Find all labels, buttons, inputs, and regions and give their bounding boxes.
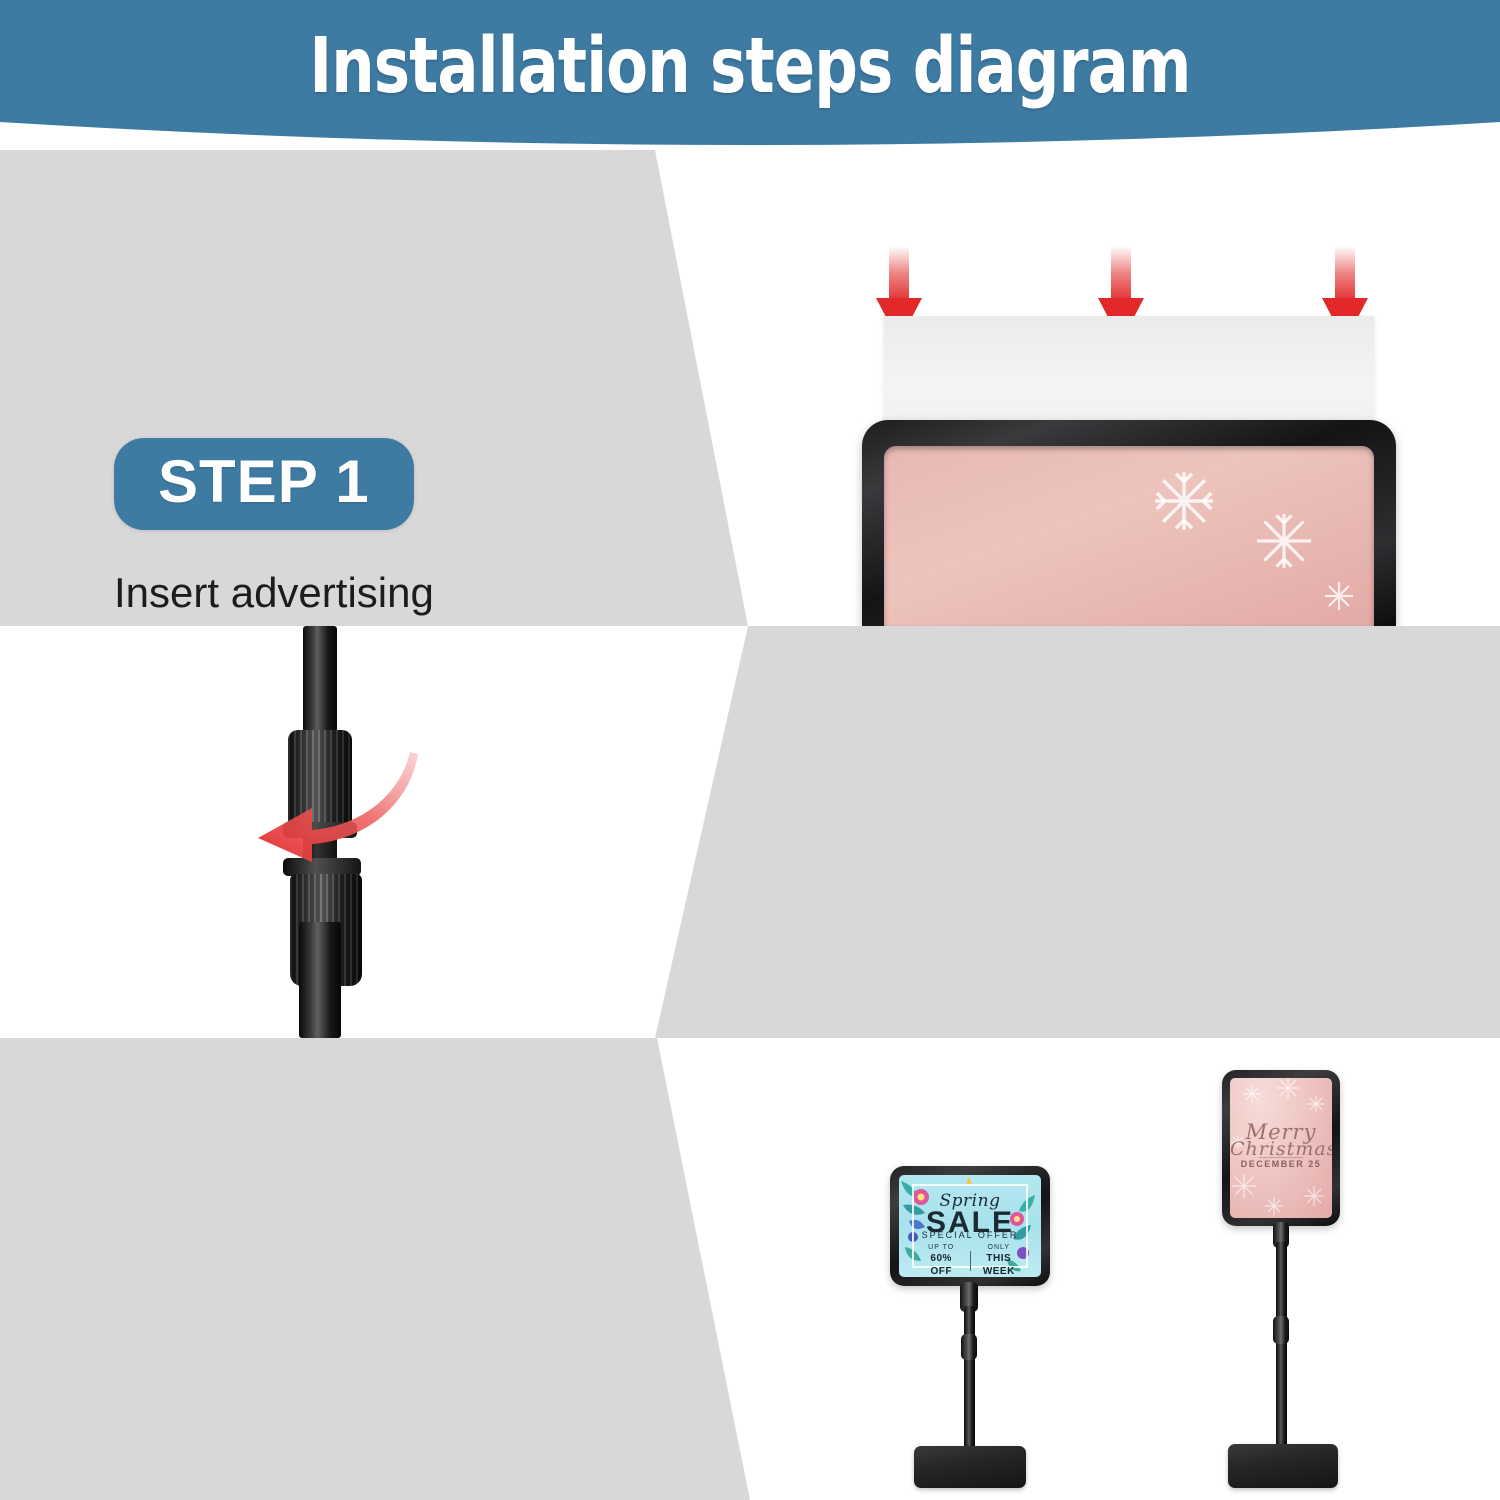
stand-pole	[964, 1306, 975, 1466]
deal-left-top: UP TO	[919, 1244, 964, 1253]
step-3-row: Spring SALE SPECIAL OFFER UP TO 60% OFF …	[0, 1038, 1500, 1500]
deal-right-bottom: THIS WEEK	[977, 1253, 1022, 1277]
installation-diagram-page: Installation steps diagram	[0, 0, 1500, 1500]
upper-pole-segment	[303, 626, 337, 738]
snap-frame-portrait: Merry Christmas DECEMBER 25	[1222, 1070, 1340, 1226]
lower-pole-segment	[299, 922, 341, 1038]
stand-pole	[1276, 1242, 1287, 1464]
step-1-text-block: STEP 1 Insert advertising paper into the…	[114, 438, 541, 626]
step-1-description-line-1: Insert advertising	[114, 566, 541, 621]
snap-frame-landscape: Spring SALE SPECIAL OFFER UP TO 60% OFF …	[890, 1166, 1050, 1286]
merry-christmas-poster: Merry Christmas DECEMBER 25	[1230, 1078, 1332, 1218]
step-1-description: Insert advertising paper into the card s…	[114, 566, 541, 626]
pole-knob	[1273, 1316, 1289, 1344]
spring-sale-poster: Spring SALE SPECIAL OFFER UP TO 60% OFF …	[899, 1175, 1041, 1277]
snap-frame-top	[862, 420, 1396, 626]
snap-frame-poster-area	[884, 446, 1374, 626]
step-3-illustration: Spring SALE SPECIAL OFFER UP TO 60% OFF …	[0, 1038, 1500, 1500]
deal-right-top: ONLY	[977, 1244, 1022, 1253]
step-2-illustration	[0, 626, 1500, 1038]
step-1-badge: STEP 1	[114, 438, 414, 530]
spring-poster-deal-left: UP TO 60% OFF	[919, 1244, 964, 1277]
snowflake-pattern-icon	[884, 446, 1374, 626]
deal-divider	[970, 1251, 971, 1271]
pole-knob	[961, 1334, 977, 1360]
christmas-poster-divider	[1259, 1157, 1304, 1158]
spring-poster-deal-right: ONLY THIS WEEK	[977, 1244, 1022, 1277]
christmas-poster-date: DECEMBER 25	[1230, 1159, 1332, 1169]
step-1-row: STEP 1 Insert advertising paper into the…	[0, 150, 1500, 626]
page-header: Installation steps diagram	[0, 0, 1500, 150]
spring-poster-deals: UP TO 60% OFF ONLY THIS WEEK	[919, 1244, 1021, 1277]
stand-base	[1228, 1444, 1338, 1488]
rotate-arrow-icon	[240, 734, 420, 864]
spring-poster-subhead: SPECIAL OFFER	[899, 1230, 1041, 1240]
page-title: Installation steps diagram	[90, 22, 1410, 111]
step-2-row: STEP 2 Connect the knob to snap	[0, 626, 1500, 1038]
deal-left-bottom: 60% OFF	[919, 1253, 964, 1277]
stand-base	[914, 1446, 1026, 1488]
